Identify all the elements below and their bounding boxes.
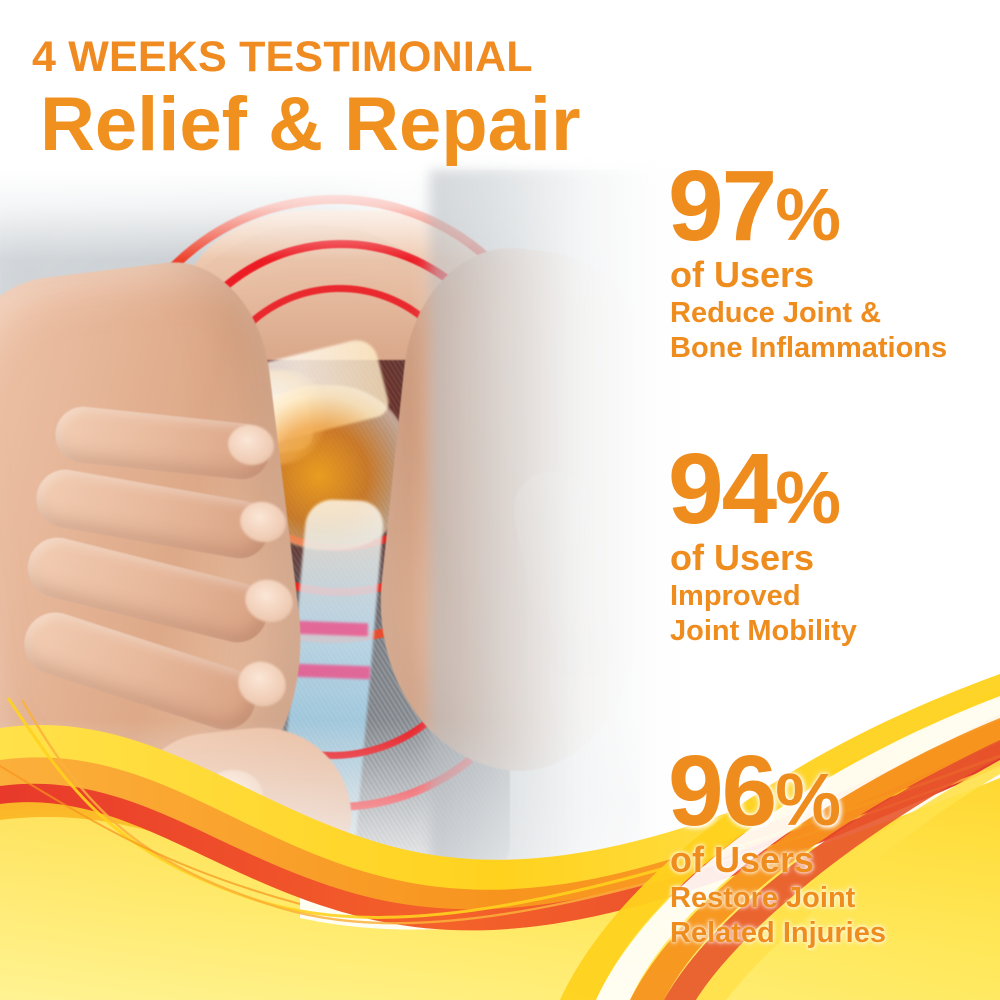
stat-percent-value-1: 97 bbox=[668, 150, 775, 262]
xray-band-pink-lower1 bbox=[292, 621, 368, 637]
percent-symbol-icon-2: % bbox=[775, 456, 840, 539]
stat-percent-3: 96% bbox=[668, 745, 1000, 837]
testimonial-poster: 4 WEEKS TESTIMONIAL Relief & Repair 97% … bbox=[0, 0, 1000, 1000]
stat-block-3: 96% of Users Restore Joint Related Injur… bbox=[668, 745, 1000, 950]
stat-percent-value-3: 96 bbox=[668, 735, 775, 847]
stat-subtitle-2: of Users bbox=[670, 539, 1000, 577]
stat-description-line2-2: Joint Mobility bbox=[670, 615, 1000, 647]
stat-subtitle-1: of Users bbox=[670, 256, 1000, 294]
header: 4 WEEKS TESTIMONIAL Relief & Repair bbox=[32, 36, 581, 164]
stat-block-2: 94% of Users Improved Joint Mobility bbox=[668, 443, 1000, 648]
stat-description-line2-3: Related Injuries bbox=[670, 917, 1000, 949]
stat-description-line1-1: Reduce Joint & bbox=[670, 297, 1000, 329]
stat-description-line1-3: Restore Joint bbox=[670, 882, 1000, 914]
stat-block-1: 97% of Users Reduce Joint & Bone Inflamm… bbox=[668, 160, 1000, 365]
stat-percent-1: 97% bbox=[668, 160, 1000, 252]
stats-panel: 97% of Users Reduce Joint & Bone Inflamm… bbox=[640, 0, 1000, 1000]
stat-subtitle-3: of Users bbox=[670, 841, 1000, 879]
stat-percent-value-2: 94 bbox=[668, 433, 775, 545]
eyebrow-title: 4 WEEKS TESTIMONIAL bbox=[32, 36, 581, 79]
percent-symbol-icon-3: % bbox=[775, 758, 840, 841]
stat-percent-2: 94% bbox=[668, 443, 1000, 535]
percent-symbol-icon-1: % bbox=[775, 173, 840, 256]
stat-description-line2-1: Bone Inflammations bbox=[670, 332, 1000, 364]
stat-description-line1-2: Improved bbox=[670, 580, 1000, 612]
page-title: Relief & Repair bbox=[40, 85, 581, 164]
